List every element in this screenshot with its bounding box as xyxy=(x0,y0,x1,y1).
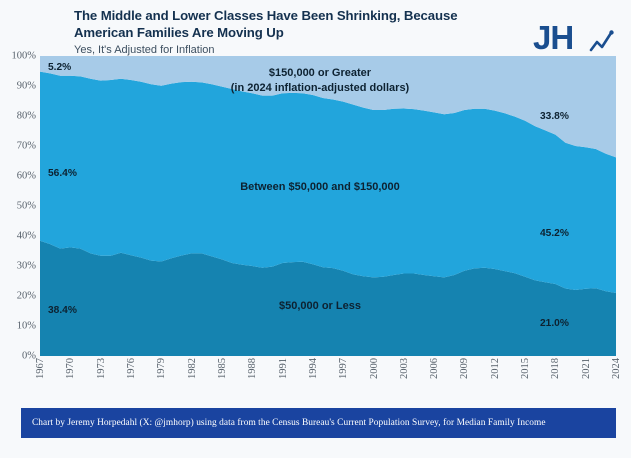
x-axis-tick: 1967 xyxy=(35,358,46,379)
y-axis-tick: 60% xyxy=(0,171,36,182)
x-axis-tick: 1988 xyxy=(247,358,258,379)
x-axis-tick: 2012 xyxy=(490,358,501,379)
x-axis-tick: 1982 xyxy=(187,358,198,379)
plot-area: 0%10%20%30%40%50%60%70%80%90%100% 5.2% 5… xyxy=(0,56,631,356)
x-axis-tick: 2021 xyxy=(581,358,592,379)
x-axis-tick: 2015 xyxy=(520,358,531,379)
x-axis: 1967197019731976197919821985198819911994… xyxy=(40,356,616,402)
y-axis-tick: 50% xyxy=(0,201,36,212)
x-axis-tick: 1991 xyxy=(278,358,289,379)
y-axis: 0%10%20%30%40%50%60%70%80%90%100% xyxy=(0,56,40,356)
svg-text:JH: JH xyxy=(533,19,573,56)
footer-credit: Chart by Jeremy Horpedahl (X: @jmhorp) u… xyxy=(21,418,546,428)
x-axis-tick: 1994 xyxy=(308,358,319,379)
x-axis-tick: 2024 xyxy=(611,358,622,379)
x-axis-tick: 1976 xyxy=(126,358,137,379)
x-axis-tick: 1970 xyxy=(65,358,76,379)
y-axis-tick: 30% xyxy=(0,261,36,272)
x-axis-tick: 2018 xyxy=(550,358,561,379)
x-axis-tick: 1985 xyxy=(217,358,228,379)
y-axis-tick: 10% xyxy=(0,321,36,332)
x-axis-tick: 2003 xyxy=(399,358,410,379)
x-axis-tick: 2000 xyxy=(369,358,380,379)
chart-page: The Middle and Lower Classes Have Been S… xyxy=(0,0,631,458)
y-axis-tick: 0% xyxy=(0,351,36,362)
x-axis-tick: 1997 xyxy=(338,358,349,379)
y-axis-tick: 20% xyxy=(0,291,36,302)
x-axis-tick: 2006 xyxy=(429,358,440,379)
y-axis-tick: 80% xyxy=(0,111,36,122)
x-axis-tick: 1973 xyxy=(96,358,107,379)
x-axis-tick: 1979 xyxy=(156,358,167,379)
page-title: The Middle and Lower Classes Have Been S… xyxy=(74,8,494,41)
footer-bar: Chart by Jeremy Horpedahl (X: @jmhorp) u… xyxy=(21,408,616,438)
y-axis-tick: 40% xyxy=(0,231,36,242)
stacked-area-chart xyxy=(40,56,616,356)
jh-logo-icon: JH xyxy=(533,18,621,58)
chart-svg xyxy=(40,56,616,356)
x-axis-tick: 2009 xyxy=(459,358,470,379)
y-axis-tick: 70% xyxy=(0,141,36,152)
y-axis-tick: 90% xyxy=(0,81,36,92)
title-block: The Middle and Lower Classes Have Been S… xyxy=(74,8,494,57)
chart-header: The Middle and Lower Classes Have Been S… xyxy=(0,0,631,56)
y-axis-tick: 100% xyxy=(0,51,36,62)
